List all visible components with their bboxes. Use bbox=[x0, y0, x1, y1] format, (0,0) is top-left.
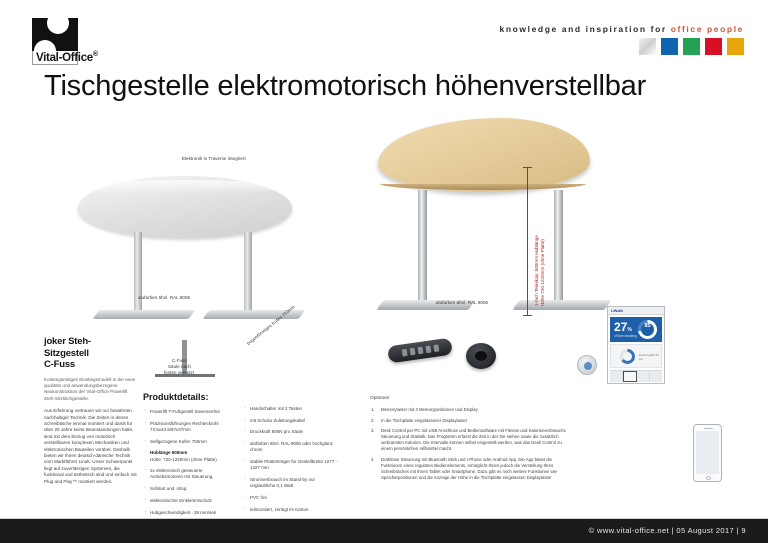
round-controller bbox=[466, 343, 496, 369]
product-heading: joker Steh- Sitzgestell C-Fuss bbox=[44, 336, 138, 371]
page-header: Vital-Office® knowledge and inspiration … bbox=[0, 0, 768, 68]
swatch-gold bbox=[727, 38, 744, 55]
footer-text: © www.vital-office.net | 05 August 2017 … bbox=[589, 526, 746, 535]
options-column: Optionen Memorytaster mit 4 Memorypositi… bbox=[370, 396, 570, 485]
detail-item: PVC frei bbox=[243, 495, 341, 501]
detail-item: Selfgezogene Kufen 750mm bbox=[143, 439, 235, 445]
label-ral-right: alufarben ähnl. RAL 9006 bbox=[436, 300, 488, 305]
linak-key-2-selected[interactable] bbox=[623, 371, 637, 382]
option-item: Memorytaster mit 4 Memorypositionen und … bbox=[370, 407, 570, 413]
option-item: Drahtlose Steuerung mit Bluetooth Stick … bbox=[370, 457, 570, 481]
handset-controller bbox=[387, 338, 453, 364]
linak-key-4[interactable] bbox=[650, 371, 662, 382]
detail-item: Handschalter mit 2 Tasten bbox=[243, 406, 341, 412]
phone-home-button[interactable] bbox=[706, 476, 711, 480]
product-heading-line2: Sitzgestell bbox=[44, 348, 89, 359]
product-details-heading: Produktdetails: bbox=[143, 392, 235, 402]
linak-gauge-value: 85 bbox=[638, 323, 657, 329]
swatch-red bbox=[705, 38, 722, 55]
desk-sensor-icon bbox=[577, 355, 597, 375]
label-elektronik-traverse: Elektronik in Traverse integriert bbox=[182, 156, 246, 161]
detail-item: 2x elektronisch gesteuerte Antriebsmotor… bbox=[143, 468, 235, 480]
registered-mark: ® bbox=[93, 51, 98, 58]
product-lead-text: Kostengünstiges Einstiegsmodell in die n… bbox=[44, 377, 138, 403]
product-heading-line1: joker Steh- bbox=[44, 336, 91, 347]
linak-percent-caption: of time standing bbox=[614, 334, 637, 338]
left-desk-column-1 bbox=[134, 232, 142, 318]
dimension-label: 1-fach Teleskop: 500mm Hublänge Höhe 720… bbox=[534, 235, 546, 306]
page-title: Tischgestelle elektromotorisch höhenvers… bbox=[44, 70, 646, 103]
page-root: Vital-Office® knowledge and inspiration … bbox=[0, 0, 768, 543]
linak-titlebar: LINAK bbox=[608, 307, 664, 315]
linak-percent-unit: % bbox=[627, 327, 631, 333]
linak-button-row[interactable] bbox=[610, 370, 662, 382]
swatch-green bbox=[683, 38, 700, 55]
linak-logo: LINAK bbox=[611, 308, 623, 313]
linak-desk-height-note: Desk height 72 cm bbox=[639, 353, 661, 361]
left-desk-column-2 bbox=[244, 232, 252, 318]
logo-wordmark-text: Vital-Office bbox=[36, 52, 93, 64]
phone-speaker-icon bbox=[704, 428, 713, 430]
right-desk-column-1 bbox=[418, 190, 427, 308]
product-details-list-2: Handschalter mit 2 Tastenmit Schuko Zule… bbox=[243, 406, 341, 513]
detail-item: Präzisionsführungen Rechteckrohr 73.5x43… bbox=[143, 421, 235, 433]
phone-screen bbox=[696, 431, 719, 474]
linak-progress-panel: Desk height 72 cm bbox=[610, 344, 662, 368]
label-cfoot-line1: C-Fuss bbox=[172, 358, 187, 363]
linak-percent-standing: 27% bbox=[614, 320, 632, 334]
options-list: Memorytaster mit 4 Memorypositionen und … bbox=[370, 407, 570, 481]
detail-item: Powerlift T-Fußgestell traversenfrei bbox=[143, 409, 235, 415]
linak-key-1[interactable] bbox=[610, 371, 623, 382]
detail-item: stabile Plattenträger für Gestellbreite … bbox=[243, 459, 341, 471]
dimension-line bbox=[527, 168, 528, 316]
dimension-cap-top bbox=[523, 167, 532, 168]
detail-item: Hublänge 500mmHöhe: 720-1220mm (ohne Pla… bbox=[143, 450, 235, 462]
brand-logo[interactable]: Vital-Office® bbox=[28, 18, 140, 62]
label-ral-left: alufarben ähnl. RAL 9006 bbox=[138, 295, 190, 300]
right-desk-top bbox=[378, 118, 590, 192]
label-cfoot-line2: Säule nach bbox=[168, 364, 191, 369]
product-body-text: Aus Erfahrung vertrauen wir nur bewährte… bbox=[44, 408, 138, 485]
detail-item: teilmontiert, zerlegt im Karton bbox=[243, 507, 341, 513]
linak-desk-control-app: LINAK 27% of time standing 85 Desk heigh… bbox=[607, 306, 665, 384]
left-desk-foot-1 bbox=[92, 310, 195, 319]
detail-item: Stromverbrauch im Stand-by nur unglaubli… bbox=[243, 477, 341, 489]
swatch-white bbox=[639, 38, 656, 55]
linak-stat-panel: 27% of time standing 85 bbox=[610, 317, 662, 342]
detail-item: Druckkraft 800N pro Säule bbox=[243, 429, 341, 435]
page-footer: © www.vital-office.net | 05 August 2017 … bbox=[0, 519, 768, 543]
detail-item: elektronischer Einklemmschutz bbox=[143, 498, 235, 504]
tagline-main: knowledge and inspiration for bbox=[500, 24, 671, 34]
brand-color-swatches bbox=[639, 38, 744, 55]
smartphone-mock bbox=[693, 424, 722, 482]
header-tagline: knowledge and inspiration for office peo… bbox=[500, 24, 745, 34]
tagline-accent: office people bbox=[671, 24, 744, 34]
right-desk-column-2 bbox=[554, 190, 563, 308]
detail-item: Hubgeschwindigkeit - 38 mm/sek bbox=[143, 510, 235, 516]
detail-item-bold: Hublänge 500mm bbox=[150, 450, 187, 455]
linak-key-3[interactable] bbox=[637, 371, 650, 382]
logo-wordmark: Vital-Office® bbox=[36, 51, 98, 64]
swatch-blue bbox=[661, 38, 678, 55]
linak-percent-value: 27 bbox=[614, 320, 627, 334]
options-heading: Optionen bbox=[370, 396, 570, 401]
product-description-column: joker Steh- Sitzgestell C-Fuss Kostengün… bbox=[44, 336, 138, 485]
product-heading-line3: C-Fuss bbox=[44, 359, 75, 370]
left-desk-top bbox=[78, 176, 292, 238]
dimension-label-line2: Höhe 720-1220mm (ohne Platte) bbox=[540, 235, 546, 306]
detail-item: Sofstart und -Stop, bbox=[143, 486, 235, 492]
detail-item: alufarben ähnl. RAL 9006 oder hochglanz … bbox=[243, 441, 341, 453]
option-item: Desk Control per PC mit USB Anschluss un… bbox=[370, 428, 570, 452]
product-details-column-2: Handschalter mit 2 Tastenmit Schuko Zule… bbox=[243, 406, 341, 518]
label-cfoot-line3: hinten versetzt bbox=[164, 370, 194, 375]
vital-office-logo-icon bbox=[32, 18, 78, 51]
detail-item: mit Schuko Zuleitungskabel bbox=[243, 418, 341, 424]
linak-progress-ring bbox=[620, 349, 635, 364]
product-details-list-1: Powerlift T-Fußgestell traversenfreiPräz… bbox=[143, 409, 235, 516]
product-details-column-1: Produktdetails: Powerlift T-Fußgestell t… bbox=[143, 392, 235, 521]
dimension-cap-bottom bbox=[523, 315, 532, 316]
option-item: In die Tischplatte eingelassener Display… bbox=[370, 418, 570, 424]
